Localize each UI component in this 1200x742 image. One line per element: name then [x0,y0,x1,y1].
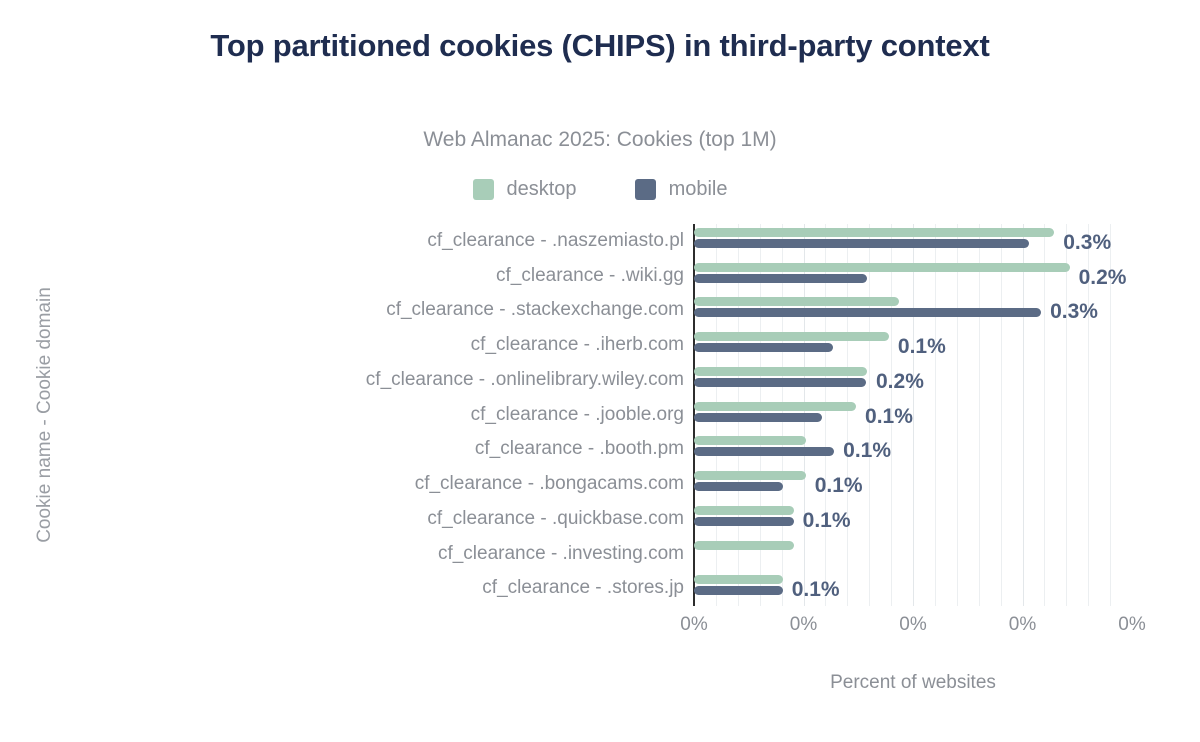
bar-mobile[interactable] [694,378,866,387]
bar-value-label: 0.1% [815,474,863,498]
chart-container: Top partitioned cookies (CHIPS) in third… [0,0,1200,742]
bar-desktop[interactable] [694,402,856,411]
bar-mobile[interactable] [694,308,1041,317]
bar-row [694,537,1132,572]
bar-mobile[interactable] [694,517,794,526]
bar-value-label: 0.1% [803,509,851,533]
y-axis-label: cf_clearance - .iherb.com [200,328,684,363]
bar-row: 0.3% [694,224,1132,259]
legend-label-desktop: desktop [507,178,577,201]
x-axis-tick: 0% [1118,614,1145,636]
y-axis-category-labels: cf_clearance - .naszemiasto.plcf_clearan… [200,224,684,606]
chart-legend: desktop mobile [0,178,1200,201]
y-axis-label: cf_clearance - .stackexchange.com [200,293,684,328]
legend-item-mobile[interactable]: mobile [635,178,728,201]
bar-row: 0.1% [694,432,1132,467]
plot-area: 0.3%0.2%0.3%0.1%0.2%0.1%0.1%0.1%0.1%0.1% [694,224,1132,606]
bar-row: 0.1% [694,398,1132,433]
x-axis-tick: 0% [1009,614,1036,636]
bar-row: 0.1% [694,467,1132,502]
bar-desktop[interactable] [694,332,889,341]
legend-swatch-mobile [635,179,656,200]
bar-value-label: 0.1% [898,335,946,359]
bar-row: 0.1% [694,502,1132,537]
bar-rows: 0.3%0.2%0.3%0.1%0.2%0.1%0.1%0.1%0.1%0.1% [694,224,1132,606]
bar-value-label: 0.1% [792,578,840,602]
x-axis-tick: 0% [899,614,926,636]
bar-row: 0.1% [694,571,1132,606]
x-axis-tick: 0% [790,614,817,636]
bar-mobile[interactable] [694,586,783,595]
y-axis-label: cf_clearance - .stores.jp [200,571,684,606]
bar-mobile[interactable] [694,482,783,491]
bar-desktop[interactable] [694,297,899,306]
bar-desktop[interactable] [694,367,867,376]
y-axis-label: cf_clearance - .onlinelibrary.wiley.com [200,363,684,398]
x-axis-tick: 0% [680,614,707,636]
bar-row: 0.2% [694,363,1132,398]
bar-value-label: 0.2% [876,370,924,394]
bar-mobile[interactable] [694,447,834,456]
legend-swatch-desktop [473,179,494,200]
bar-value-label: 0.1% [843,439,891,463]
y-axis-label: cf_clearance - .quickbase.com [200,502,684,537]
bar-value-label: 0.1% [865,405,913,429]
bar-mobile[interactable] [694,239,1029,248]
y-axis-title: Cookie name - Cookie domain [34,250,56,580]
x-axis-title: Percent of websites [694,672,1132,694]
y-axis-label: cf_clearance - .booth.pm [200,432,684,467]
bar-desktop[interactable] [694,541,794,550]
bar-desktop[interactable] [694,263,1070,272]
bar-value-label: 0.3% [1050,300,1098,324]
bar-mobile[interactable] [694,413,822,422]
bar-desktop[interactable] [694,506,794,515]
y-axis-label: cf_clearance - .wiki.gg [200,259,684,294]
bar-desktop[interactable] [694,471,806,480]
x-axis-tick-labels: 0%0%0%0%0% [694,606,1132,646]
chart-subtitle: Web Almanac 2025: Cookies (top 1M) [100,128,1100,152]
bar-mobile[interactable] [694,343,833,352]
y-axis-label: cf_clearance - .naszemiasto.pl [200,224,684,259]
bar-row: 0.2% [694,259,1132,294]
bar-desktop[interactable] [694,228,1054,237]
y-axis-label: cf_clearance - .bongacams.com [200,467,684,502]
bar-desktop[interactable] [694,436,806,445]
legend-item-desktop[interactable]: desktop [473,178,577,201]
bar-value-label: 0.3% [1063,231,1111,255]
y-axis-label: cf_clearance - .jooble.org [200,398,684,433]
bar-value-label: 0.2% [1079,266,1127,290]
bar-desktop[interactable] [694,575,783,584]
bar-row: 0.1% [694,328,1132,363]
y-axis-label: cf_clearance - .investing.com [200,537,684,572]
legend-label-mobile: mobile [669,178,728,201]
bar-row: 0.3% [694,293,1132,328]
chart-title: Top partitioned cookies (CHIPS) in third… [100,28,1100,65]
bar-mobile[interactable] [694,274,867,283]
